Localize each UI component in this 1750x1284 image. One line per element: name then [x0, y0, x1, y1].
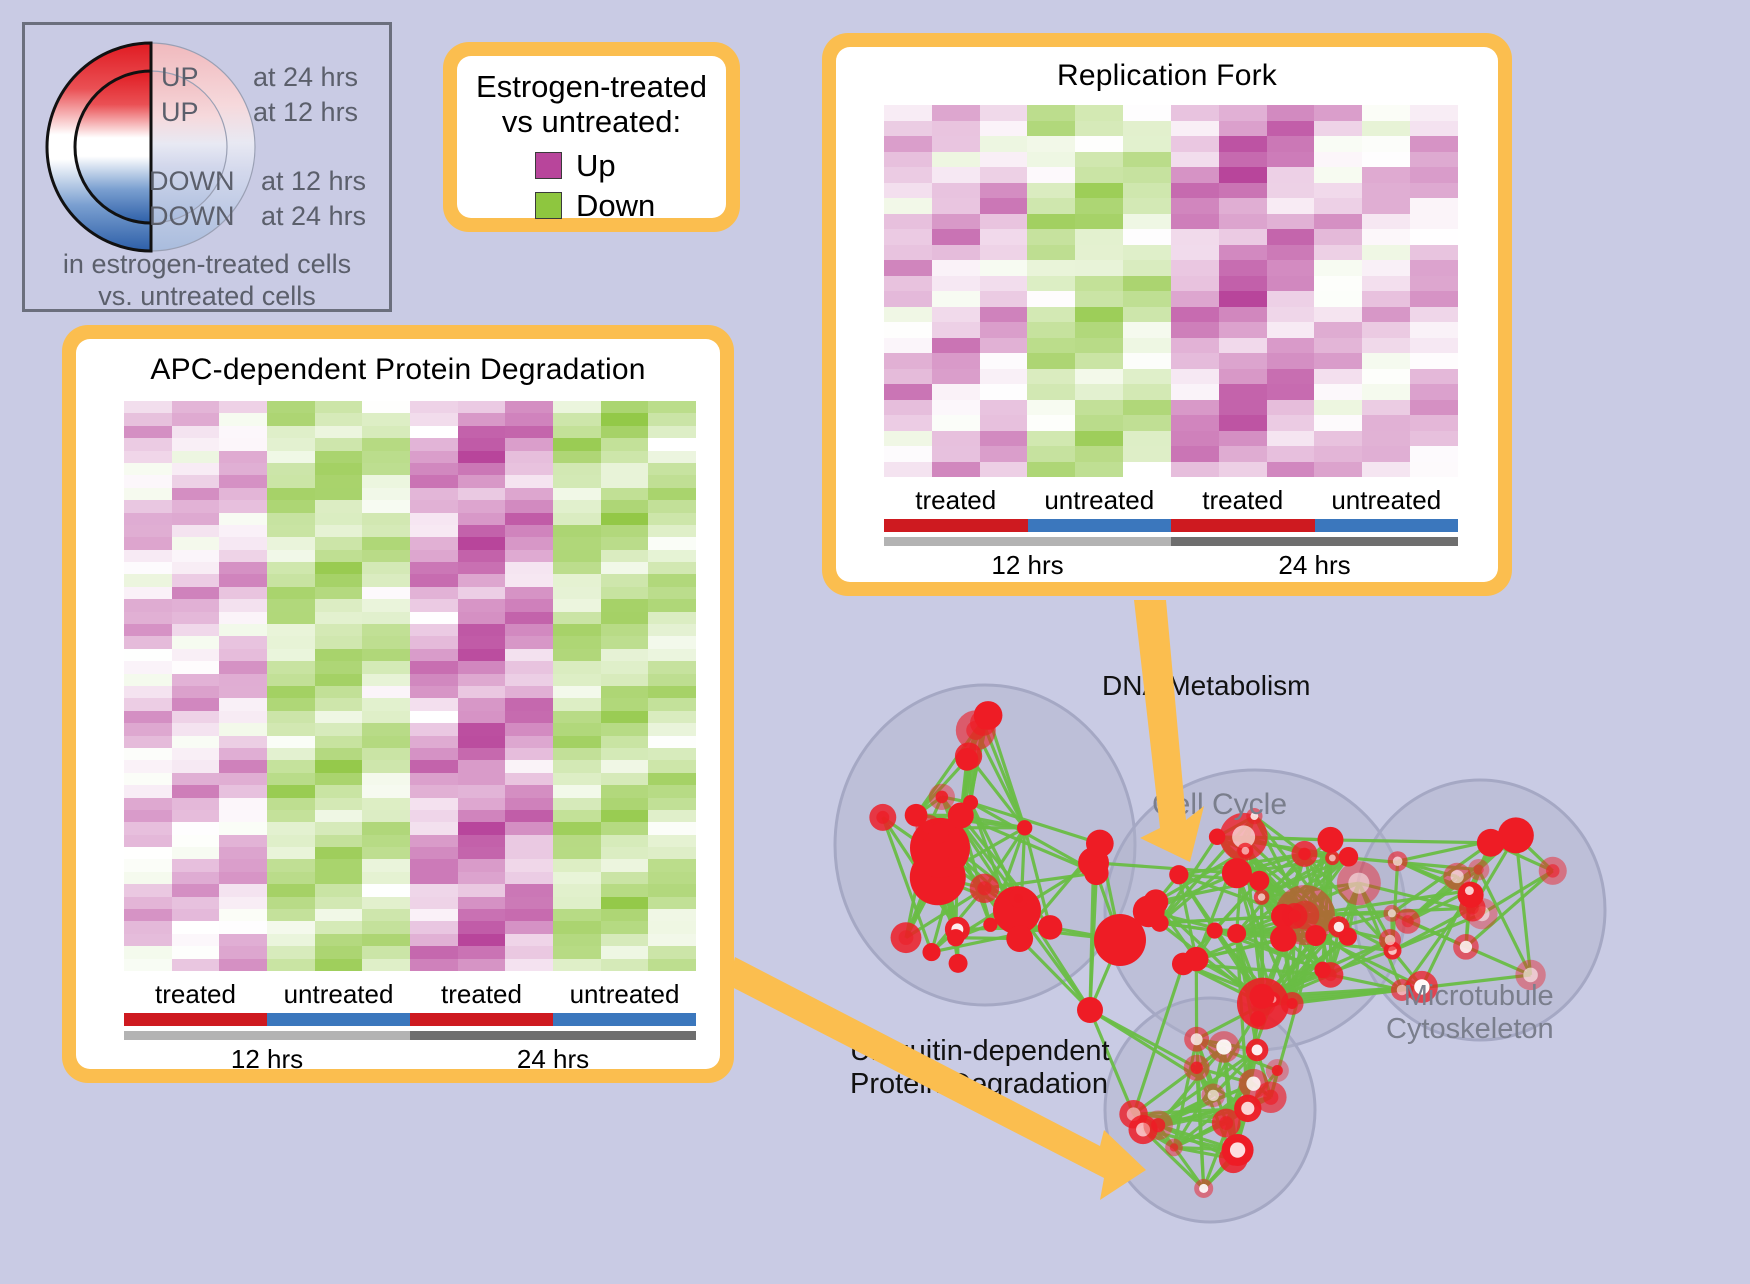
network-node[interactable]: [1270, 925, 1297, 952]
network-graph: [790, 610, 1750, 1279]
group-bar-3: [1315, 519, 1459, 532]
time-bar-0: [124, 1031, 410, 1040]
network-node-core: [1208, 1090, 1219, 1101]
network-node-core: [1199, 1184, 1208, 1193]
network-node[interactable]: [1250, 1011, 1266, 1027]
network-node-core: [1252, 1045, 1263, 1056]
time-label-12hrs: 12 hrs: [124, 1044, 410, 1075]
group-bar-1: [1028, 519, 1172, 532]
network-node[interactable]: [1339, 847, 1359, 867]
network-node[interactable]: [1184, 947, 1208, 971]
network-node[interactable]: [947, 929, 964, 946]
group-label-0: treated: [884, 485, 1028, 516]
replication-fork-inner: Replication Fork treated untreated treat…: [836, 47, 1498, 582]
network-node-core: [1014, 894, 1023, 903]
legend-swatch-up-icon: [535, 152, 562, 179]
network-node-core: [1329, 854, 1336, 861]
network-node[interactable]: [1086, 830, 1114, 858]
network-node-core: [876, 811, 889, 824]
network-node-core: [1258, 893, 1265, 900]
key-state-up-12: UP: [161, 97, 199, 128]
network-node-core: [1388, 909, 1396, 917]
network-node-core: [1151, 1118, 1165, 1132]
legend-title: Estrogen-treated vs untreated:: [467, 70, 716, 139]
network-node-core: [1334, 922, 1344, 932]
network-node-core: [1242, 847, 1250, 855]
time-label-24hrs: 24 hrs: [410, 1044, 696, 1075]
apc-degradation-title: APC-dependent Protein Degradation: [76, 339, 720, 387]
network-node[interactable]: [1209, 829, 1225, 845]
network-node[interactable]: [1077, 997, 1103, 1023]
group-label-1: untreated: [267, 979, 410, 1010]
network-node-core: [1402, 915, 1414, 927]
network-node-core: [977, 881, 991, 895]
replication-fork-group-labels: treated untreated treated untreated: [884, 485, 1458, 516]
cluster-label-cell-cycle: Cell Cycle: [1152, 788, 1287, 823]
group-label-1: untreated: [1028, 485, 1172, 516]
network-node[interactable]: [1094, 914, 1146, 966]
network-node[interactable]: [1227, 924, 1246, 943]
network-node-core: [1460, 941, 1472, 953]
network-node-core: [1474, 865, 1484, 875]
apc-degradation-inner: APC-dependent Protein Degradation treate…: [76, 339, 720, 1069]
network-node-core: [1170, 1143, 1178, 1151]
network-node[interactable]: [948, 850, 966, 868]
network-node-core: [936, 791, 949, 804]
network-node[interactable]: [948, 803, 974, 829]
time-label-12hrs: 12 hrs: [884, 550, 1171, 581]
group-label-3: untreated: [1315, 485, 1459, 516]
network-node[interactable]: [956, 748, 979, 771]
replication-fork-title: Replication Fork: [836, 47, 1498, 93]
network-node[interactable]: [1249, 871, 1269, 891]
legend-items: Up Down: [467, 145, 716, 225]
network-node[interactable]: [974, 701, 1003, 730]
network-node-core: [1546, 864, 1559, 877]
key-state-down-24: DOWN: [149, 201, 234, 232]
network-node[interactable]: [1169, 865, 1188, 884]
time-bar-1: [1171, 537, 1458, 546]
network-node[interactable]: [949, 954, 968, 973]
time-bar-0: [884, 537, 1171, 546]
time-label-24hrs: 24 hrs: [1171, 550, 1458, 581]
apc-degradation-panel: APC-dependent Protein Degradation treate…: [62, 325, 734, 1083]
legend-inner: Estrogen-treated vs untreated: Up Down: [457, 56, 726, 218]
cluster-label-microtubule: Microtubule Cytoskeleton: [1386, 980, 1554, 1047]
key-state-up-24: UP: [161, 62, 199, 93]
cluster-label-ubiquitin: Ubiquitin-dependent Protein Degradation: [850, 1035, 1110, 1102]
network-node-core: [1190, 1061, 1202, 1073]
group-bar-2: [410, 1013, 553, 1026]
group-bar-2: [1171, 519, 1315, 532]
color-key-box: UP at 24 hrs UP at 12 hrs DOWN at 12 hrs…: [22, 22, 392, 312]
network-node[interactable]: [922, 943, 940, 961]
network-node[interactable]: [929, 823, 949, 843]
group-bar-0: [124, 1013, 267, 1026]
group-label-2: treated: [410, 979, 553, 1010]
key-time-down-24: at 24 hrs: [261, 201, 366, 232]
group-bar-0: [884, 519, 1028, 532]
legend-label-up: Up: [576, 150, 616, 181]
network-node-core: [1451, 870, 1464, 883]
network-node-core: [1230, 1142, 1245, 1157]
time-bar-1: [410, 1031, 696, 1040]
network-node[interactable]: [983, 918, 997, 932]
legend-item-up: Up: [535, 145, 716, 185]
network-node[interactable]: [1006, 925, 1033, 952]
apc-time-labels: 12 hrs 24 hrs: [124, 1044, 696, 1075]
network-node-core: [1241, 1102, 1254, 1115]
key-caption-line2: vs. untreated cells: [25, 281, 389, 313]
network-node-core: [1246, 1077, 1260, 1091]
network-node-core: [1465, 886, 1474, 895]
network-node-core: [1393, 856, 1403, 866]
network-node[interactable]: [1305, 925, 1326, 946]
network-node-core: [899, 930, 914, 945]
replication-fork-time-labels: 12 hrs 24 hrs: [884, 550, 1458, 581]
legend-label-down: Down: [576, 190, 655, 221]
network-node[interactable]: [1317, 827, 1343, 853]
updown-legend-panel: Estrogen-treated vs untreated: Up Down: [443, 42, 740, 232]
network-node-core: [1272, 1065, 1283, 1076]
group-label-0: treated: [124, 979, 267, 1010]
network-node-core: [1191, 1033, 1203, 1045]
network-node[interactable]: [1084, 861, 1108, 885]
key-state-down-12: DOWN: [149, 166, 234, 197]
network-node[interactable]: [1222, 858, 1252, 888]
network-node-core: [1385, 935, 1396, 946]
legend-item-down: Down: [535, 185, 716, 225]
network-node-core: [1287, 998, 1298, 1009]
pathway-network-diagram: DNA Metabolism Cell Cycle Microtubule Cy…: [790, 610, 1750, 1279]
apc-group-labels: treated untreated treated untreated: [124, 979, 696, 1010]
apc-degradation-heatmap: [124, 401, 696, 971]
key-time-up-24: at 24 hrs: [253, 62, 358, 93]
key-caption: in estrogen-treated cells vs. untreated …: [25, 249, 389, 313]
network-node[interactable]: [1017, 820, 1032, 835]
replication-fork-time-bars: [884, 537, 1458, 546]
group-label-2: treated: [1171, 485, 1315, 516]
group-label-3: untreated: [553, 979, 696, 1010]
network-node-core: [1216, 1039, 1231, 1054]
key-caption-line1: in estrogen-treated cells: [25, 249, 389, 281]
network-node-core: [1466, 902, 1479, 915]
network-node[interactable]: [1207, 922, 1223, 938]
legend-title-line2: vs untreated:: [467, 105, 716, 140]
network-node-core: [1348, 873, 1369, 894]
replication-fork-panel: Replication Fork treated untreated treat…: [822, 33, 1512, 596]
network-node-core: [1219, 1116, 1233, 1130]
apc-group-bars: [124, 1013, 696, 1026]
group-bar-3: [553, 1013, 696, 1026]
network-node[interactable]: [1249, 984, 1274, 1009]
network-node-core: [1288, 910, 1300, 922]
cluster-label-dna-metabolism: DNA Metabolism: [1102, 670, 1311, 702]
apc-time-bars: [124, 1031, 696, 1040]
network-node-core: [1298, 848, 1310, 860]
network-node[interactable]: [1477, 829, 1505, 857]
group-bar-1: [267, 1013, 410, 1026]
figure-canvas: UP at 24 hrs UP at 12 hrs DOWN at 12 hrs…: [0, 0, 1750, 1279]
key-time-down-12: at 12 hrs: [261, 166, 366, 197]
legend-swatch-down-icon: [535, 192, 562, 219]
replication-fork-heatmap: [884, 105, 1458, 477]
legend-title-line1: Estrogen-treated: [467, 70, 716, 105]
replication-fork-group-bars: [884, 519, 1458, 532]
network-node[interactable]: [1314, 962, 1330, 978]
key-time-up-12: at 12 hrs: [253, 97, 358, 128]
network-node[interactable]: [1038, 915, 1063, 940]
